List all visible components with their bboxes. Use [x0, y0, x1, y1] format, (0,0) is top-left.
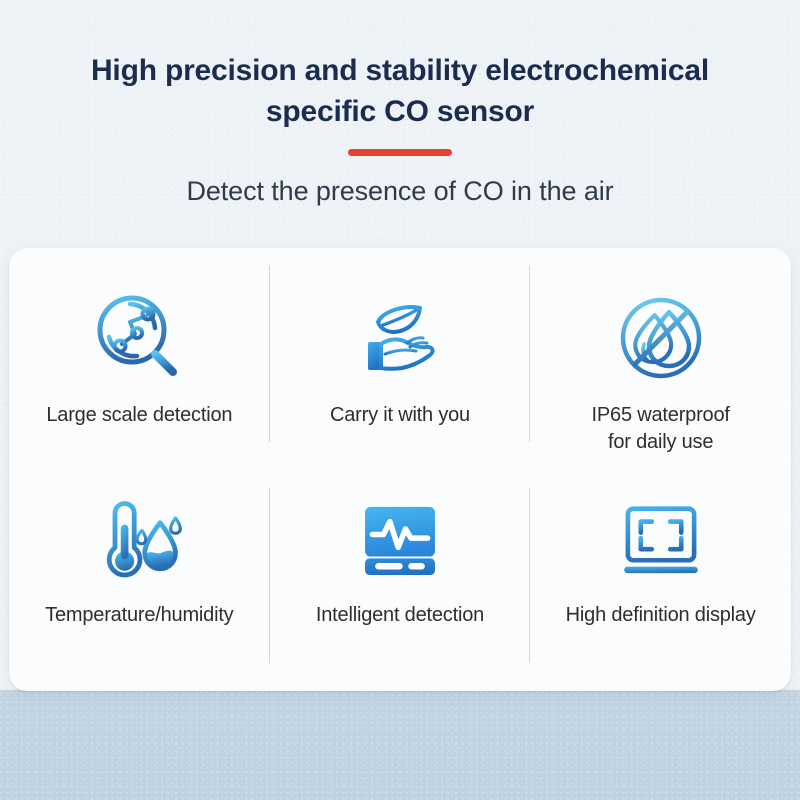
feature-label: Carry it with you	[330, 402, 470, 429]
title-line-2: specific CO sensor	[0, 91, 800, 132]
feature-label: Temperature/humidity	[45, 602, 233, 629]
features-card: Large scale detection	[9, 248, 791, 691]
accent-divider-bar	[348, 149, 452, 156]
feature-label: High definition display	[566, 602, 756, 629]
feature-label: Large scale detection	[46, 402, 232, 429]
features-grid: Large scale detection	[9, 248, 791, 691]
page-title: High precision and stability electrochem…	[0, 0, 800, 133]
monitor-waveform-icon	[352, 492, 448, 588]
feature-item-carry-it-with-you[interactable]: Carry it with you	[270, 248, 531, 470]
feature-item-high-definition-display[interactable]: High definition display	[530, 470, 791, 692]
thermometer-humidity-icon	[91, 492, 187, 588]
banner-header: High precision and stability electrochem…	[0, 0, 800, 207]
screen-corners-icon	[613, 492, 709, 588]
waterproof-no-droplet-icon	[609, 286, 713, 390]
feature-item-large-scale-detection[interactable]: Large scale detection	[9, 248, 270, 470]
feature-item-temperature-humidity[interactable]: Temperature/humidity	[9, 470, 270, 692]
feature-item-intelligent-detection[interactable]: Intelligent detection	[270, 470, 531, 692]
feature-item-ip65-waterproof[interactable]: IP65 waterproof for daily use	[530, 248, 791, 470]
page-subtitle: Detect the presence of CO in the air	[0, 176, 800, 207]
title-line-1: High precision and stability electrochem…	[91, 54, 709, 87]
product-feature-banner: High precision and stability electrochem…	[0, 0, 800, 800]
hand-feather-icon	[348, 286, 452, 390]
feature-label: IP65 waterproof for daily use	[592, 402, 730, 456]
feature-label: Intelligent detection	[316, 602, 484, 629]
magnifier-network-icon	[87, 286, 191, 390]
